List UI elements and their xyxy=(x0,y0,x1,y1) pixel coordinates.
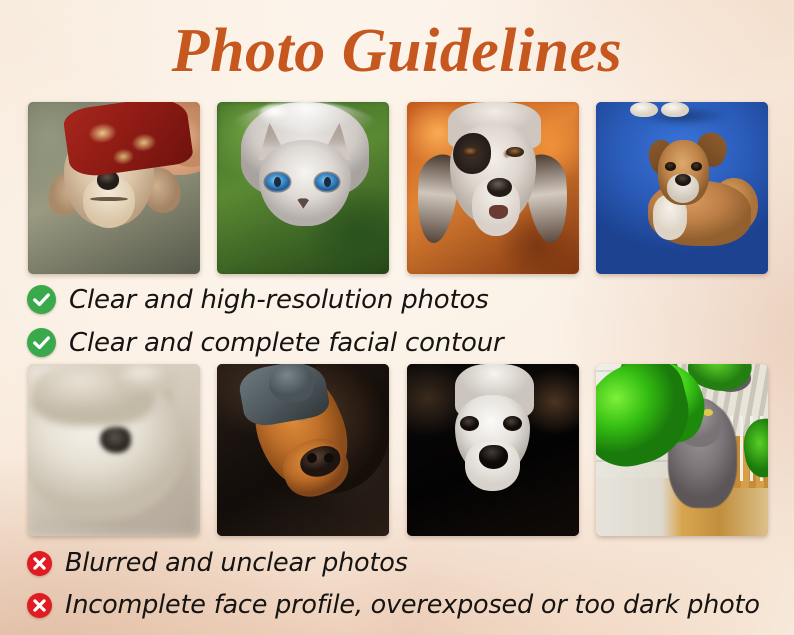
dog-nose xyxy=(479,445,508,469)
puppy-right-eye xyxy=(691,162,702,171)
food-bowl xyxy=(117,364,175,392)
cross-circle-icon xyxy=(27,551,52,576)
photo-tan-puppy-blue-backdrop[interactable] xyxy=(596,102,768,274)
white-flower xyxy=(259,102,304,126)
dog-nose xyxy=(100,426,131,454)
cross-circle-icon xyxy=(27,593,52,618)
list-item: Clear and complete facial contour xyxy=(27,321,504,364)
grey-hand xyxy=(269,364,314,402)
dog-left-eye xyxy=(462,147,479,157)
photo-english-setter[interactable] xyxy=(407,102,579,274)
bad-guidelines-list: Blurred and unclear photos Incomplete fa… xyxy=(27,542,760,626)
list-item: Clear and high-resolution photos xyxy=(27,278,504,321)
dog-right-eye xyxy=(503,416,522,431)
bad-examples-photo-row: 7 10 xyxy=(28,364,768,536)
dog-mouth xyxy=(90,197,128,201)
dog-nose xyxy=(487,178,511,197)
puppy-left-eye xyxy=(665,162,676,171)
photo-cat-behind-leaves[interactable]: 7 10 xyxy=(596,364,768,536)
cat-chest-fur xyxy=(228,102,383,164)
dog-right-eye xyxy=(506,147,523,157)
good-examples-photo-row xyxy=(28,102,768,274)
list-item-label: Incomplete face profile, overexposed or … xyxy=(65,590,760,620)
photo-blurred-dog-muzzle[interactable] xyxy=(28,364,200,536)
dog-mouth xyxy=(489,205,508,219)
list-item-label: Blurred and unclear photos xyxy=(65,548,408,578)
photo-dark-tilted-dog-face[interactable] xyxy=(217,364,389,536)
photo-white-dog-dark-background[interactable] xyxy=(407,364,579,536)
list-item-label: Clear and complete facial contour xyxy=(69,328,504,358)
photo-white-cat-blue-eyes[interactable] xyxy=(217,102,389,274)
dog-left-eye xyxy=(460,416,479,431)
list-item: Blurred and unclear photos xyxy=(27,542,760,584)
puppy-front-paw-left xyxy=(630,102,658,117)
list-item-label: Clear and high-resolution photos xyxy=(69,285,489,315)
puppy-front-paw-right xyxy=(661,102,689,117)
cat-right-pupil xyxy=(324,177,331,187)
cat-left-pupil xyxy=(274,177,281,187)
page-title: Photo Guidelines xyxy=(0,14,794,88)
check-circle-icon xyxy=(27,285,56,314)
list-item: Incomplete face profile, overexposed or … xyxy=(27,584,760,626)
puppy-nose xyxy=(675,174,690,186)
check-circle-icon xyxy=(27,328,56,357)
good-guidelines-list: Clear and high-resolution photos Clear a… xyxy=(27,278,504,364)
photo-guidelines-page: Photo Guidelines xyxy=(0,0,794,635)
photo-dog-petted-bandana[interactable] xyxy=(28,102,200,274)
